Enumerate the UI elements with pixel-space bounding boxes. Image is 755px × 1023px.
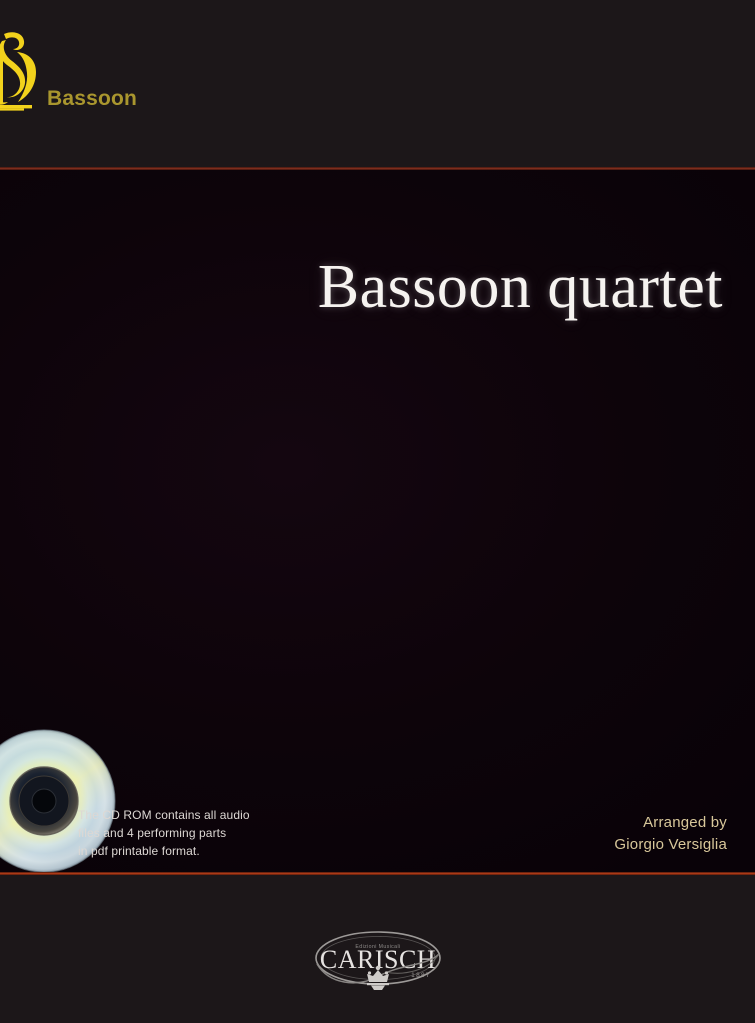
arranger-name: Giorgio Versiglia (614, 834, 727, 856)
cd-caption-line-1: The CD ROM contains all audio (78, 806, 278, 824)
carisch-logo-icon: Edizioni Musicali CARISCH 1887 (293, 918, 463, 1008)
lyre-icon (0, 28, 48, 120)
cd-caption: The CD ROM contains all audio files and … (78, 806, 278, 860)
instrument-label: Bassoon (47, 88, 137, 109)
cd-caption-line-3: in pdf printable format. (78, 842, 278, 860)
sheet-music-cover: Bassoon Bassoon quartet (0, 0, 755, 1023)
arranger-credit: Arranged by Giorgio Versiglia (614, 812, 727, 856)
arranged-by-label: Arranged by (614, 812, 727, 834)
cd-caption-line-2: files and 4 performing parts (78, 824, 278, 842)
page-title: Bassoon quartet (0, 255, 723, 320)
header-band: Bassoon (0, 0, 755, 168)
svg-text:1887: 1887 (411, 972, 431, 979)
